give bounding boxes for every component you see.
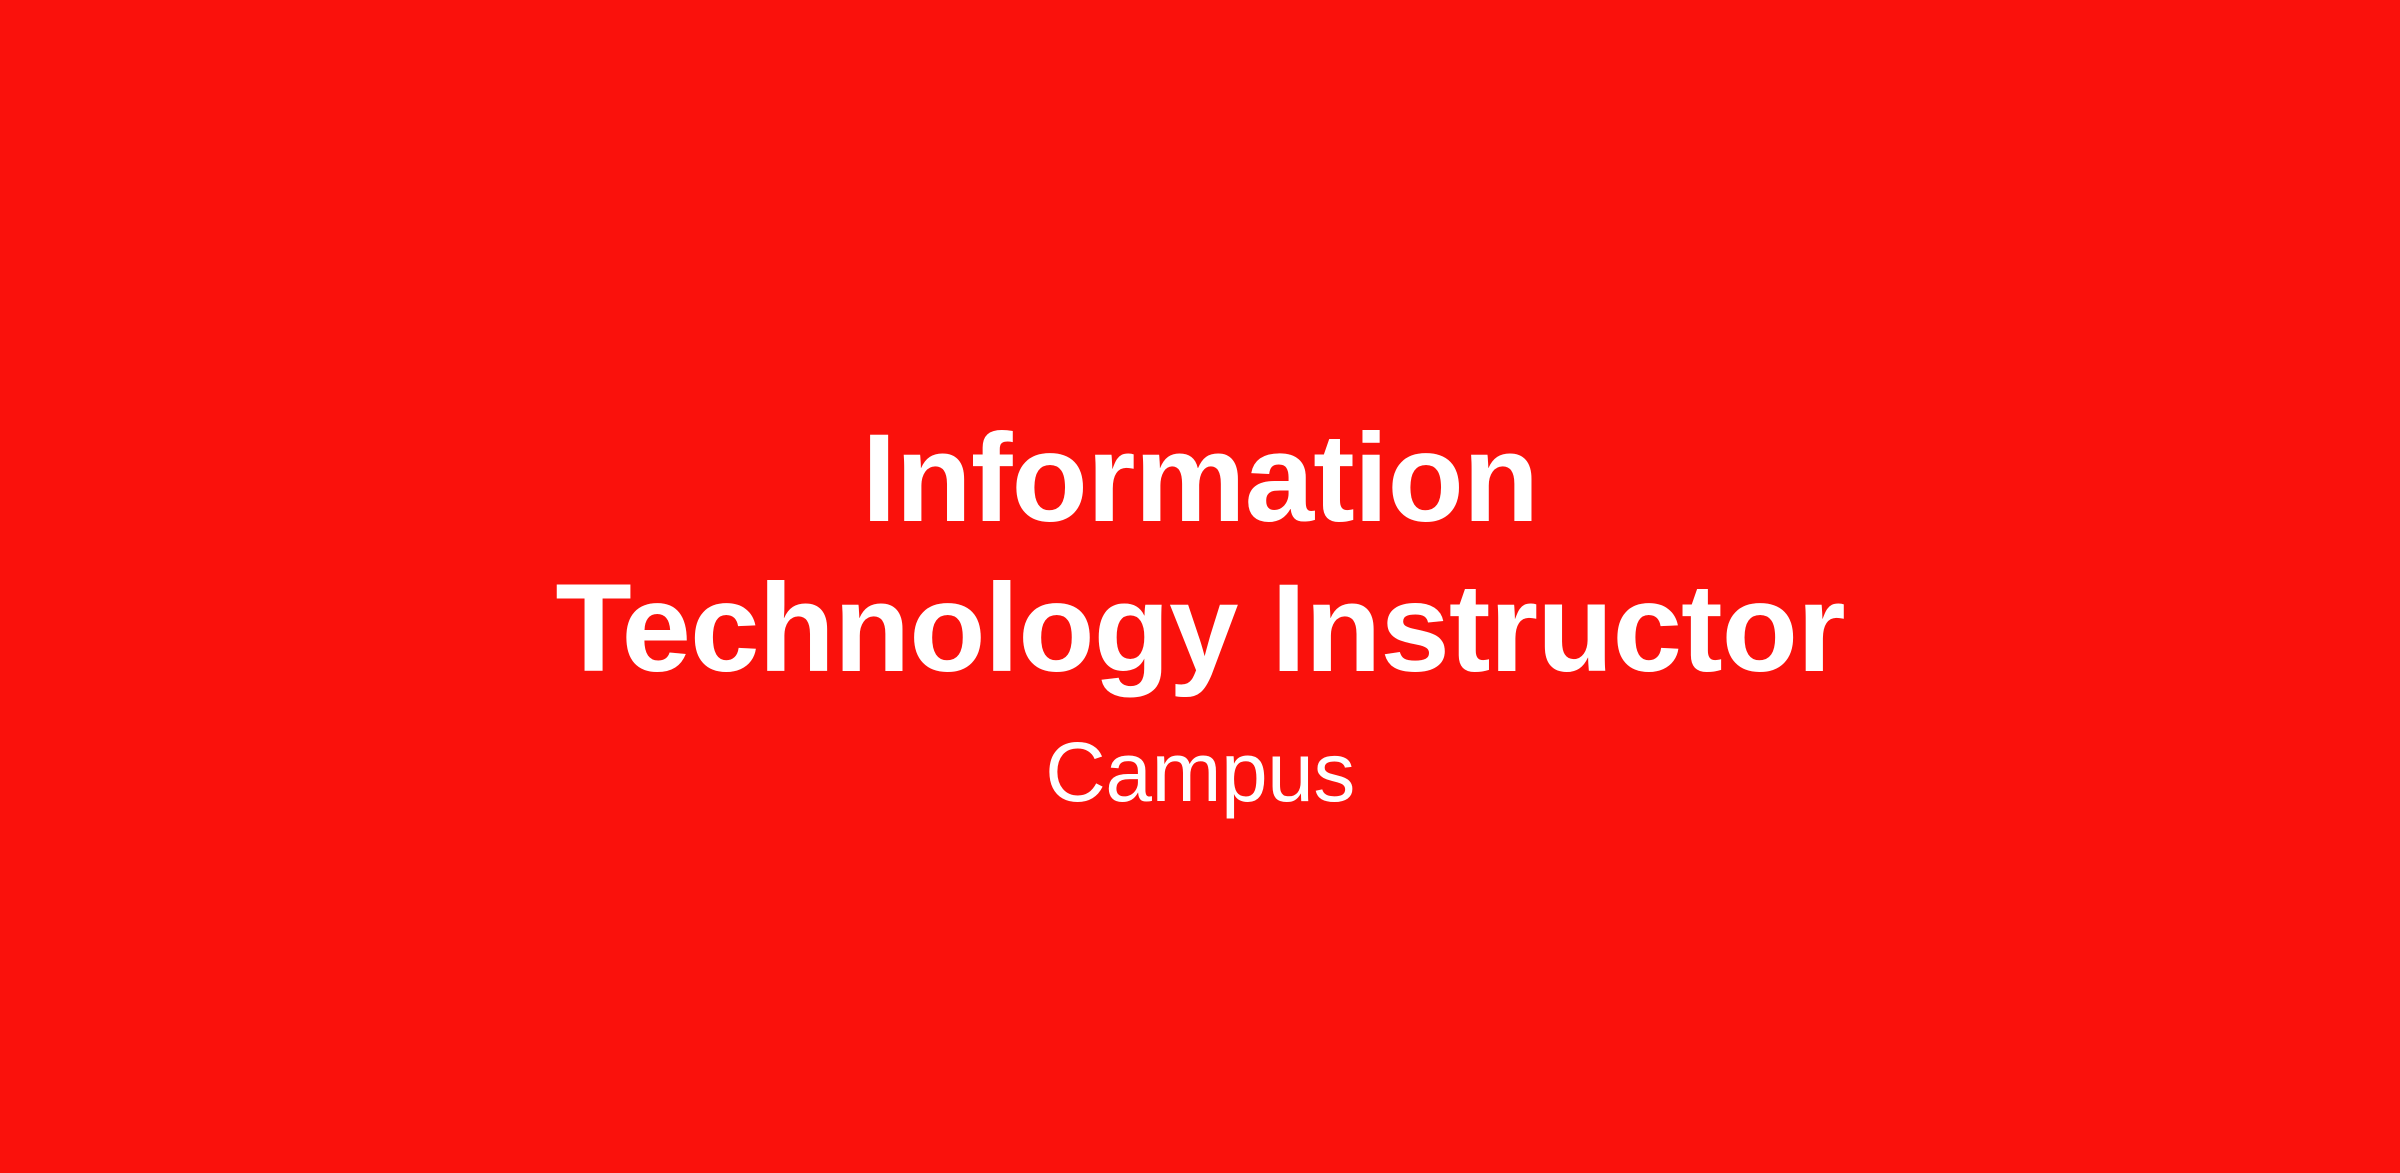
- hero-subtitle: Campus: [1045, 726, 1355, 818]
- hero-banner: Information Technology Instructor Campus: [0, 0, 2400, 1173]
- page-title: Information Technology Instructor: [555, 404, 1845, 704]
- hero-content: Information Technology Instructor Campus: [500, 404, 1900, 818]
